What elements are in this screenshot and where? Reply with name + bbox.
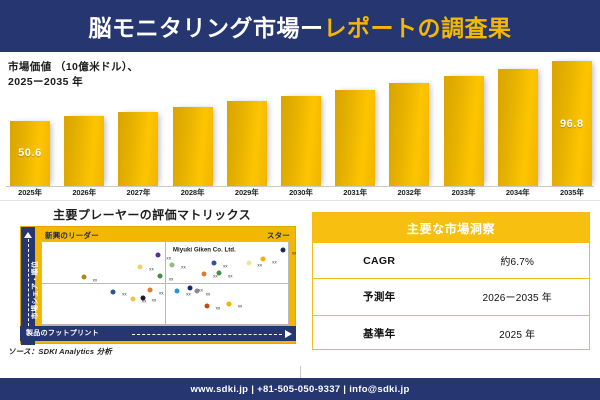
- matrix-x-axis-label: 製品のフットプリント: [26, 328, 99, 338]
- matrix-data-point-label: xx: [186, 291, 191, 296]
- x-axis-tick-label: 2029年: [227, 187, 267, 200]
- matrix-data-point-label: xx: [152, 298, 157, 303]
- page-title-accent: レポートの調査果: [324, 15, 512, 41]
- bar-value-label: 50.6: [10, 147, 50, 159]
- header-banner: 脳モニタリング市場ーレポートの調査果: [0, 0, 600, 52]
- matrix-data-point: [226, 301, 231, 306]
- matrix-data-point-label: xx: [228, 273, 233, 278]
- bar-column: [281, 56, 321, 186]
- insights-row-key: 基準年: [313, 326, 445, 341]
- footer-contact-text: www.sdki.jp | +81-505-050-9337 | info@sd…: [190, 384, 409, 395]
- bar: [173, 107, 213, 186]
- matrix-title: 主要プレーヤーの評価マトリックス: [6, 206, 298, 223]
- matrix-data-point: [140, 295, 145, 300]
- matrix-data-point: [246, 260, 251, 265]
- bar-column: 50.6: [10, 56, 50, 186]
- x-axis-tick-label: 2030年: [281, 187, 321, 200]
- bar: [64, 116, 104, 186]
- matrix-data-point: [204, 303, 209, 308]
- matrix-horizontal-divider: [42, 283, 288, 284]
- bar: [335, 90, 375, 187]
- bar: 50.6: [10, 121, 50, 186]
- bar-column: [335, 56, 375, 186]
- matrix-data-point-label: xx: [169, 276, 174, 281]
- matrix-data-point-label: xx: [216, 306, 221, 311]
- bar-column: [498, 56, 538, 186]
- matrix-data-point: [194, 289, 199, 294]
- arrow-up-icon: [24, 232, 32, 238]
- matrix-data-point-label: xx: [292, 250, 297, 255]
- matrix-data-point: [202, 271, 207, 276]
- bar-column: [444, 56, 484, 186]
- x-axis-tick-label: 2025年: [10, 187, 50, 200]
- x-axis-tick-label: 2033年: [444, 187, 484, 200]
- insights-row: CAGR約6.7%: [313, 243, 589, 278]
- quadrant-label-stars: スター: [267, 230, 290, 241]
- matrix-data-point: [217, 271, 222, 276]
- matrix-data-point: [175, 289, 180, 294]
- bar: [118, 112, 158, 186]
- insights-rows: CAGR約6.7%予測年2026ー2035 年基準年2025 年: [313, 243, 589, 351]
- x-axis-tick-label: 2027年: [118, 187, 158, 200]
- matrix-data-point-label: xx: [122, 292, 127, 297]
- matrix-data-point-label: xx: [159, 290, 164, 295]
- insights-row: 予測年2026ー2035 年: [313, 278, 589, 314]
- bar-value-label: 96.8: [552, 118, 592, 130]
- page-title: 脳モニタリング市場ーレポートの調査果: [89, 9, 512, 43]
- matrix-highlight-label: Miyuki Giken Co. Ltd.: [173, 247, 236, 254]
- x-axis-tick-label: 2032年: [389, 187, 429, 200]
- matrix-data-point: [212, 261, 217, 266]
- bar: [444, 76, 484, 186]
- bar: [227, 101, 267, 186]
- bar-column: [173, 56, 213, 186]
- insights-row-key: 予測年: [313, 289, 445, 304]
- insights-row-value: 約6.7%: [445, 253, 589, 268]
- page-title-primary: 脳モニタリング市場ー: [89, 15, 324, 41]
- infographic-page: 脳モニタリング市場ーレポートの調査果 市場価値 （10億米ドル）、 2025ー2…: [0, 0, 600, 400]
- insights-row-key: CAGR: [313, 255, 445, 267]
- insights-row-value: 2026ー2035 年: [445, 289, 589, 304]
- x-axis-tick-label: 2035年: [552, 187, 592, 200]
- footer-banner: www.sdki.jp | +81-505-050-9337 | info@sd…: [0, 378, 600, 400]
- quadrant-label-emerging-leaders: 新興のリーダー: [45, 230, 99, 241]
- bar-series: 50.696.8: [10, 56, 592, 186]
- matrix-data-point: [170, 262, 175, 267]
- market-value-bar-chart: 市場価値 （10億米ドル）、 2025ー2035 年 50.696.8 2025…: [0, 52, 600, 200]
- matrix-data-point-label: xx: [166, 255, 171, 260]
- matrix-data-point-label: xx: [93, 277, 98, 282]
- matrix-data-point: [281, 248, 286, 253]
- matrix-x-axis: 製品のフットプリント: [20, 326, 296, 341]
- bar: [281, 96, 321, 186]
- matrix-data-point-label: xx: [181, 265, 186, 270]
- x-axis-tick-label: 2028年: [173, 187, 213, 200]
- matrix-data-point-label: xx: [206, 291, 211, 296]
- bar: 96.8: [552, 61, 592, 186]
- x-axis-dashed-line: [132, 334, 282, 335]
- bar: [389, 83, 429, 186]
- matrix-plot-area: Miyuki Giken Co. Ltd. xxxxxxxxxxxxxxxxxx…: [41, 241, 289, 325]
- matrix-data-point: [131, 296, 136, 301]
- matrix-data-point: [158, 274, 163, 279]
- x-axis-tick-labels: 2025年2026年2027年2028年2029年2030年2031年2032年…: [10, 187, 592, 200]
- matrix-data-point: [111, 290, 116, 295]
- player-matrix-panel: 主要プレーヤーの評価マトリックス 市場シェア・順位 新興のリーダー スター 参加…: [6, 204, 298, 356]
- matrix-data-point: [138, 264, 143, 269]
- arrow-right-icon: [285, 330, 292, 338]
- insights-row-value: 2025 年: [445, 326, 589, 341]
- matrix-data-point-label: xx: [257, 262, 262, 267]
- x-axis-tick-label: 2026年: [64, 187, 104, 200]
- insights-heading: 主要な市場洞察: [313, 213, 589, 243]
- insights-row: 基準年2025 年: [313, 315, 589, 351]
- bar-column: [227, 56, 267, 186]
- bar-column: 96.8: [552, 56, 592, 186]
- matrix-data-point-label: xx: [238, 303, 243, 308]
- bar-column: [389, 56, 429, 186]
- section-divider: [0, 200, 600, 201]
- matrix-data-point: [155, 253, 160, 258]
- matrix-data-point-label: xx: [223, 263, 228, 268]
- matrix-y-axis-label: 市場シェア・順位: [30, 247, 40, 333]
- matrix-data-point-label: xx: [272, 259, 277, 264]
- matrix-data-point-label: xx: [149, 267, 154, 272]
- x-axis-tick-label: 2034年: [498, 187, 538, 200]
- footer-tick-mark: [300, 366, 301, 378]
- source-note: ソース：SDKI Analytics 分析: [8, 346, 112, 357]
- matrix-data-point: [261, 257, 266, 262]
- bar-column: [64, 56, 104, 186]
- key-insights-table: 主要な市場洞察 CAGR約6.7%予測年2026ー2035 年基準年2025 年: [312, 212, 590, 350]
- x-axis-tick-label: 2031年: [335, 187, 375, 200]
- matrix-data-point: [187, 285, 192, 290]
- bar: [498, 69, 538, 186]
- matrix-data-point: [148, 288, 153, 293]
- bar-column: [118, 56, 158, 186]
- matrix-data-point: [81, 275, 86, 280]
